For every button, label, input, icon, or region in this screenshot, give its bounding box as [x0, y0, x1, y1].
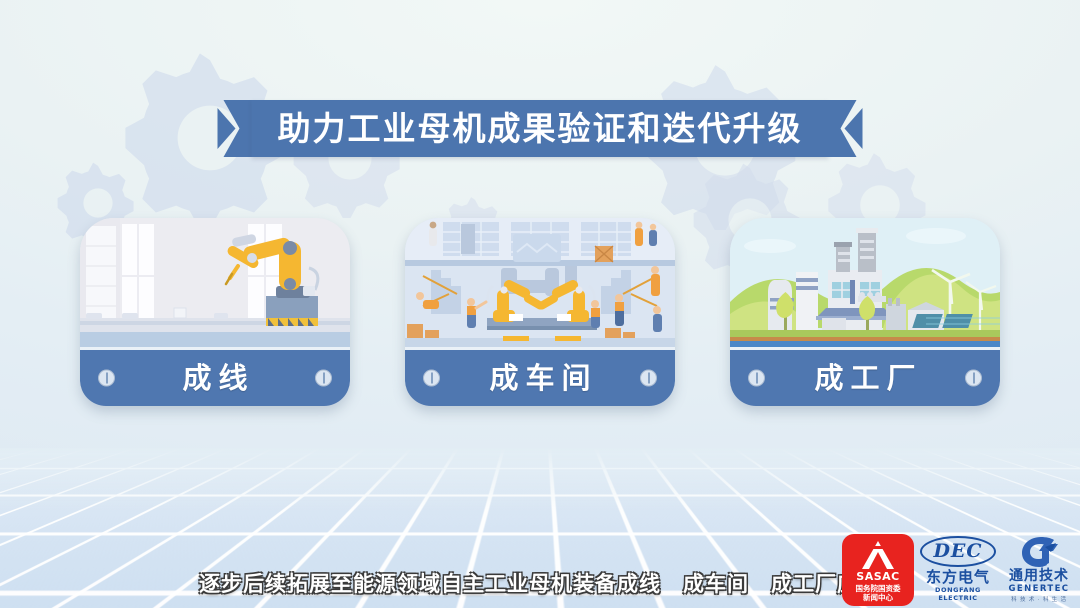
logo-sasac-en: SASAC — [856, 571, 899, 583]
logo-genertec-cn: 通用技术 — [1002, 569, 1076, 584]
screw-icon — [423, 370, 440, 387]
title-banner-body: 助力工业母机成果验证和迭代升级 — [252, 100, 829, 157]
card-factory[interactable]: 成工厂 — [730, 218, 1000, 406]
logo-sasac-cn-line1: 国务院国资委 — [856, 584, 901, 593]
screw-icon — [640, 370, 657, 387]
logo-sasac: SASAC 国务院国资委 新闻中心 — [842, 534, 914, 606]
logo-bar: SASAC 国务院国资委 新闻中心 DEC 东方电气 DONGFANG ELEC… — [842, 534, 1076, 606]
logo-dec-cn: 东方电气 — [920, 569, 996, 586]
logo-dec-en-short: DEC — [933, 540, 982, 562]
sasac-arch-icon — [858, 540, 898, 570]
card-label-band: 成线 — [80, 347, 350, 406]
page-title: 助力工业母机成果验证和迭代升级 — [278, 112, 803, 145]
card-label-band: 成工厂 — [730, 347, 1000, 406]
slide-root: 助力工业母机成果验证和迭代升级 — [0, 0, 1080, 608]
logo-sasac-cn-line2: 新闻中心 — [856, 593, 901, 602]
logo-genertec-en: GENERTEC — [1002, 584, 1076, 594]
chevron-right-icon — [218, 100, 252, 157]
card-workshop[interactable]: 成车间 — [405, 218, 675, 406]
robot-arm-production-line-illustration — [80, 218, 350, 350]
card-label-text: 成工厂 — [807, 364, 922, 393]
screw-icon — [748, 370, 765, 387]
logo-genertec: 通用技术 GENERTEC 科 技 术 · 科 生 活 — [1002, 535, 1076, 606]
logo-dec-en: DONGFANG ELECTRIC — [920, 586, 996, 602]
title-banner: 助力工业母机成果验证和迭代升级 — [218, 100, 863, 157]
chevron-left-icon — [829, 100, 863, 157]
card-production-line[interactable]: 成线 — [80, 218, 350, 406]
logo-genertec-tagline: 科 技 术 · 科 生 活 — [1002, 595, 1076, 603]
logo-dec: DEC 东方电气 DONGFANG ELECTRIC — [920, 536, 996, 607]
card-label-text: 成车间 — [482, 364, 597, 393]
green-energy-factory-illustration — [730, 218, 1000, 350]
gt-monogram-icon — [1002, 535, 1076, 569]
card-label-band: 成车间 — [405, 347, 675, 406]
screw-icon — [965, 370, 982, 387]
screw-icon — [98, 370, 115, 387]
smart-workshop-illustration — [405, 218, 675, 350]
card-row: 成线 — [0, 218, 1080, 406]
card-label-text: 成线 — [175, 364, 254, 393]
screw-icon — [315, 370, 332, 387]
dec-oval-icon: DEC — [920, 536, 996, 567]
